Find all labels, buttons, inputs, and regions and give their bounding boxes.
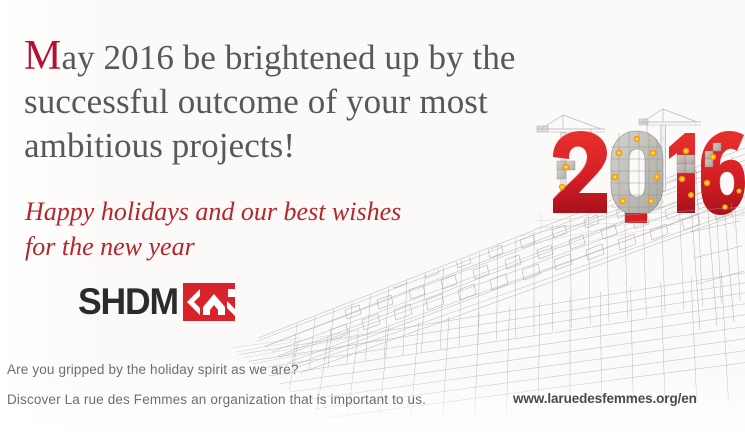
page-title: May 2016 be brightened up by the success… bbox=[24, 36, 524, 168]
headline-text: ay 2016 be brightened up by the successf… bbox=[24, 38, 516, 165]
shdm-wordmark: SHDM bbox=[78, 283, 178, 321]
footer-description: Discover La rue des Femmes an organizati… bbox=[7, 392, 426, 407]
holiday-wish-text: Happy holidays and our best wishes for t… bbox=[25, 194, 425, 264]
greeting-card: May 2016 be brightened up by the success… bbox=[0, 0, 745, 438]
year-2016-construction-graphic bbox=[535, 95, 745, 240]
headline-dropcap: M bbox=[24, 33, 61, 79]
footer-question: Are you gripped by the holiday spirit as… bbox=[7, 362, 299, 377]
laruedesfemmes-link[interactable]: www.laruedesfemmes.org/en bbox=[513, 391, 697, 406]
shdm-roof-emblem-icon bbox=[183, 283, 235, 321]
shdm-logo[interactable]: SHDM bbox=[78, 283, 235, 321]
